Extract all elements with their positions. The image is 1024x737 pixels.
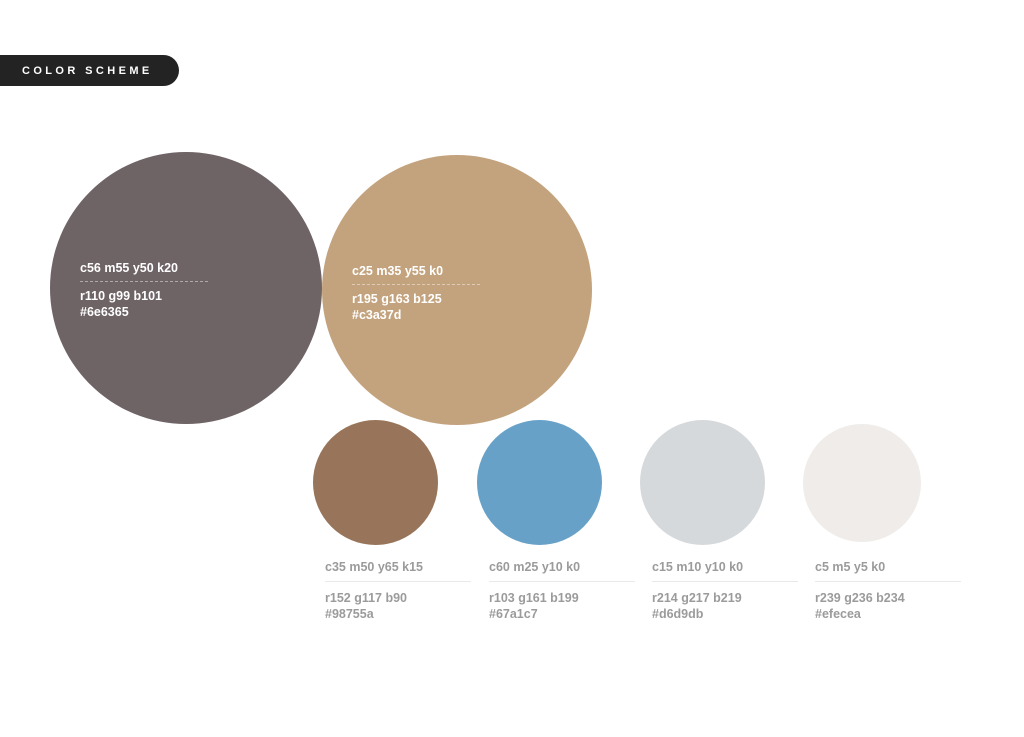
swatch-hex: #c3a37d	[352, 307, 480, 323]
swatch-label-off-white: c5 m5 y5 k0r239 g236 b234#efecea	[815, 559, 963, 622]
swatch-hex: #67a1c7	[489, 606, 637, 622]
color-scheme-badge: COLOR SCHEME	[0, 55, 179, 86]
swatch-rgb: r195 g163 b125	[352, 291, 480, 307]
swatch-hex: #efecea	[815, 606, 963, 622]
swatch-rgb: r103 g161 b199	[489, 590, 637, 606]
swatch-hex: #6e6365	[80, 304, 208, 320]
swatch-label-tan: c25 m35 y55 k0r195 g163 b125#c3a37d	[352, 263, 480, 323]
swatch-hex: #d6d9db	[652, 606, 800, 622]
swatch-divider	[325, 581, 471, 582]
swatch-rgb: r110 g99 b101	[80, 288, 208, 304]
swatch-circle-brown[interactable]	[313, 420, 438, 545]
swatch-label-warm-gray: c56 m55 y50 k20r110 g99 b101#6e6365	[80, 260, 208, 320]
swatch-circle-off-white[interactable]	[803, 424, 921, 542]
swatch-cmyk: c25 m35 y55 k0	[352, 263, 480, 284]
swatch-hex: #98755a	[325, 606, 473, 622]
swatch-rgb: r152 g117 b90	[325, 590, 473, 606]
swatch-cmyk: c35 m50 y65 k15	[325, 559, 473, 581]
swatch-rgb: r239 g236 b234	[815, 590, 963, 606]
swatch-divider	[652, 581, 798, 582]
swatch-label-light-gray: c15 m10 y10 k0r214 g217 b219#d6d9db	[652, 559, 800, 622]
swatch-cmyk: c56 m55 y50 k20	[80, 260, 208, 281]
swatch-circle-blue[interactable]	[477, 420, 602, 545]
swatch-label-brown: c35 m50 y65 k15r152 g117 b90#98755a	[325, 559, 473, 622]
swatch-cmyk: c60 m25 y10 k0	[489, 559, 637, 581]
swatch-circle-light-gray[interactable]	[640, 420, 765, 545]
swatch-rgb: r214 g217 b219	[652, 590, 800, 606]
swatch-label-blue: c60 m25 y10 k0r103 g161 b199#67a1c7	[489, 559, 637, 622]
swatch-cmyk: c5 m5 y5 k0	[815, 559, 963, 581]
color-scheme-canvas: COLOR SCHEME c56 m55 y50 k20r110 g99 b10…	[0, 0, 1024, 737]
swatch-divider	[352, 284, 480, 285]
badge-label: COLOR SCHEME	[22, 65, 153, 77]
swatch-divider	[815, 581, 961, 582]
swatch-divider	[80, 281, 208, 282]
swatch-divider	[489, 581, 635, 582]
swatch-cmyk: c15 m10 y10 k0	[652, 559, 800, 581]
